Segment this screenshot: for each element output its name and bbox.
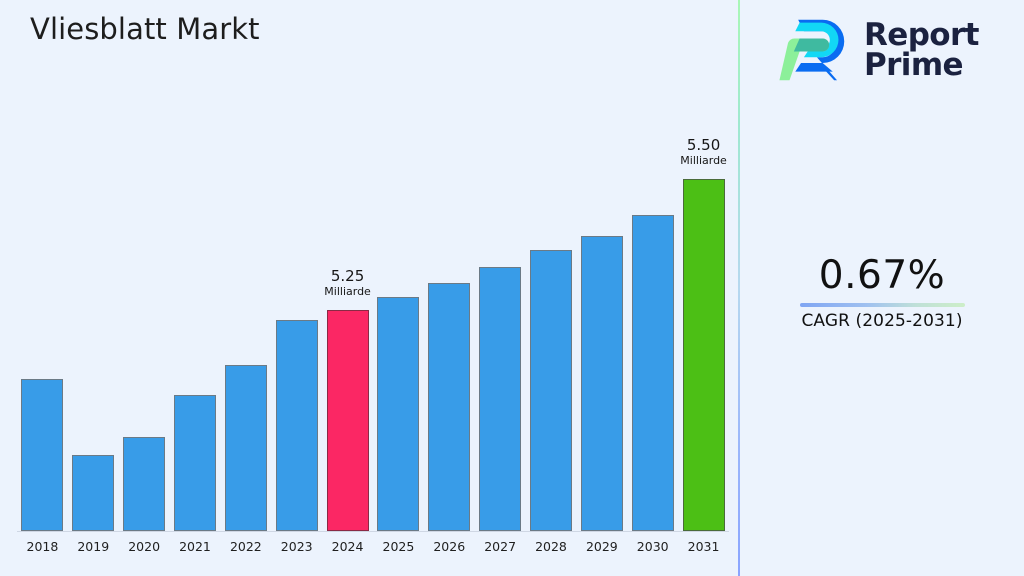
chart-panel: Vliesblatt Markt 20182019202020212022202… <box>0 0 738 576</box>
bar-chart-plot: 20182019202020212022202320245.25Milliard… <box>0 0 738 576</box>
report-prime-logo-icon <box>778 14 850 86</box>
infographic-root: Vliesblatt Markt 20182019202020212022202… <box>0 0 1024 576</box>
x-axis-tick-2029: 2029 <box>576 539 627 554</box>
x-axis-tick-2021: 2021 <box>170 539 221 554</box>
x-axis-tick-2031: 2031 <box>678 539 729 554</box>
x-axis-line <box>17 531 729 532</box>
bar-2019[interactable] <box>72 455 114 531</box>
x-axis-tick-2028: 2028 <box>526 539 577 554</box>
x-axis-tick-2025: 2025 <box>373 539 424 554</box>
x-axis-tick-2027: 2027 <box>475 539 526 554</box>
bar-2026[interactable] <box>428 283 470 531</box>
x-axis-tick-2030: 2030 <box>627 539 678 554</box>
bar-2021[interactable] <box>174 395 216 531</box>
brand-wordmark: Report Prime <box>864 20 979 81</box>
brand-logo: Report Prime <box>778 14 979 86</box>
bar-2018[interactable] <box>21 379 63 531</box>
x-axis-tick-2018: 2018 <box>17 539 68 554</box>
brand-line-2: Prime <box>864 50 979 80</box>
bar-2022[interactable] <box>225 365 267 531</box>
x-axis-tick-2023: 2023 <box>271 539 322 554</box>
brand-panel: Report Prime 0.67% CAGR (2025-2031) <box>740 0 1024 576</box>
cagr-label: CAGR (2025-2031) <box>740 311 1024 331</box>
x-axis-tick-2022: 2022 <box>220 539 271 554</box>
x-axis-tick-2024: 2024 <box>322 539 373 554</box>
bar-2024[interactable] <box>327 310 369 531</box>
x-axis-tick-2019: 2019 <box>68 539 119 554</box>
bar-value-number-2024: 5.25 <box>298 268 398 286</box>
bar-2023[interactable] <box>276 320 318 531</box>
bar-2027[interactable] <box>479 267 521 531</box>
brand-line-1: Report <box>864 20 979 50</box>
x-axis-tick-2020: 2020 <box>119 539 170 554</box>
cagr-value: 0.67% <box>740 255 1024 298</box>
bar-2029[interactable] <box>581 236 623 531</box>
cagr-divider-rule <box>800 303 965 307</box>
bar-2028[interactable] <box>530 250 572 531</box>
bar-2025[interactable] <box>377 297 419 531</box>
bar-2031[interactable] <box>683 179 725 531</box>
bar-2020[interactable] <box>123 437 165 531</box>
x-axis-tick-2026: 2026 <box>424 539 475 554</box>
bar-2030[interactable] <box>632 215 674 531</box>
cagr-block: 0.67% CAGR (2025-2031) <box>740 255 1024 331</box>
bar-value-label-2024: 5.25Milliarde <box>298 268 398 299</box>
